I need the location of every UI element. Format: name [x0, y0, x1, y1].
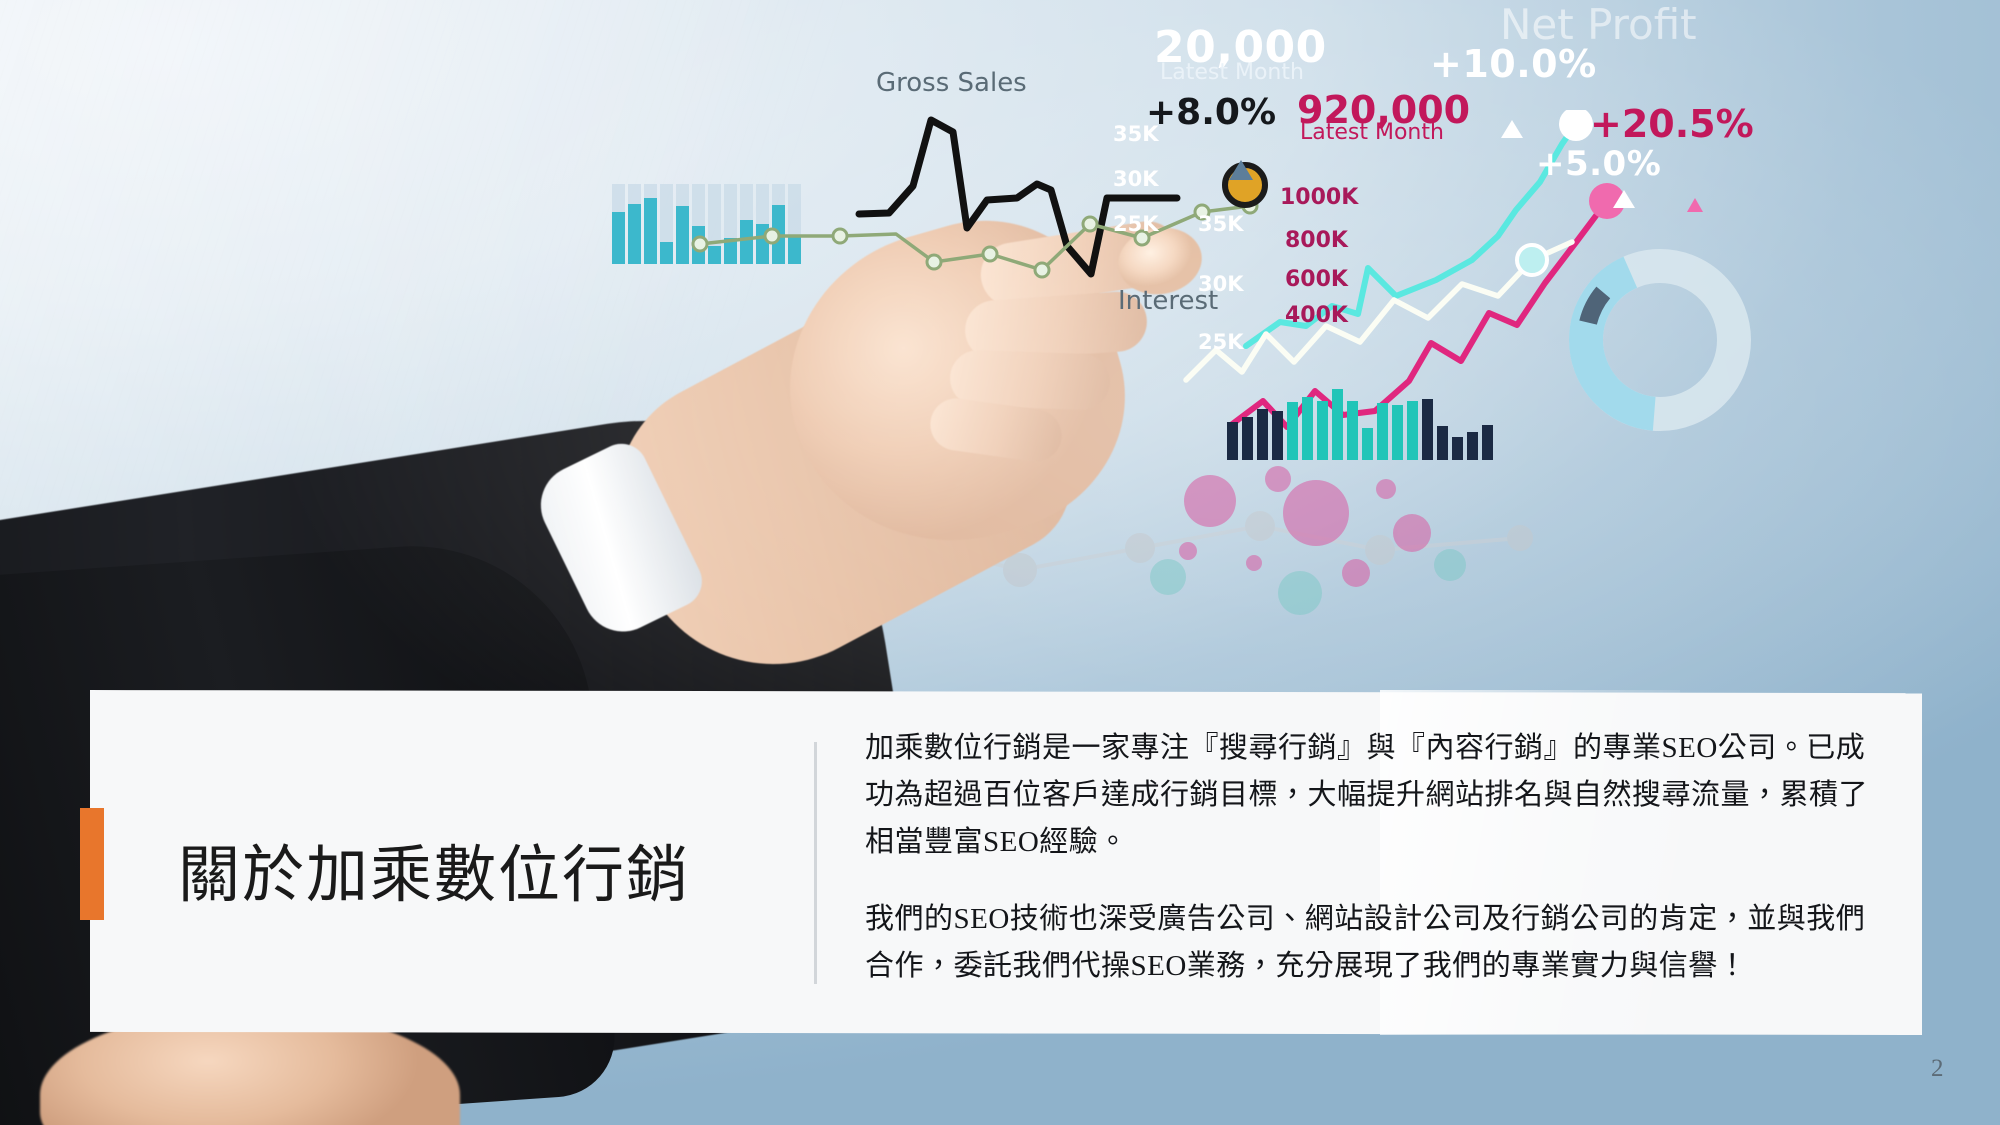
- pct-5-label: +5.0%: [1536, 144, 1661, 184]
- axis-tick-right-2: 600K: [1285, 267, 1348, 292]
- axis-tick-left-1: 30K: [1113, 167, 1159, 191]
- axis-tick-mid-2: 25K: [1198, 330, 1244, 354]
- donut-chart: [1550, 230, 1770, 450]
- axis-tick-mid-0: 35K: [1198, 212, 1244, 236]
- page-title: 關於加乘數位行銷: [178, 842, 778, 910]
- bubble-cluster: [1150, 455, 1490, 615]
- axis-tick-mid-1: 30K: [1198, 272, 1244, 296]
- up-triangle-icon-1: [1228, 158, 1254, 182]
- body-text: 加乘數位行銷是一家專注『搜尋行銷』與『內容行銷』的專業SEO公司。已成功為超過百…: [865, 725, 1875, 990]
- up-triangle-icon-2: [1500, 118, 1524, 140]
- latest-month-label-1: Latest Month: [1160, 60, 1304, 85]
- pct-20-5-label: +20.5%: [1590, 102, 1754, 146]
- axis-tick-right-1: 800K: [1285, 228, 1348, 253]
- axis-tick-right-0: 1000K: [1280, 185, 1358, 210]
- slide-canvas: Gross Sales Interest Net Profit 20,000 L…: [0, 0, 2000, 1125]
- vertical-divider: [814, 742, 817, 984]
- axis-tick-right-3: 400K: [1285, 303, 1348, 328]
- paragraph-1: 加乘數位行銷是一家專注『搜尋行銷』與『內容行銷』的專業SEO公司。已成功為超過百…: [865, 725, 1875, 866]
- page-number: 2: [1931, 1055, 1944, 1083]
- revenue-bar-chart: [1225, 385, 1505, 460]
- paragraph-2: 我們的SEO技術也深受廣告公司、網站設計公司及行銷公司的肯定，並與我們合作，委託…: [865, 896, 1875, 990]
- gross-sales-label: Gross Sales: [876, 68, 1027, 98]
- axis-tick-left-2: 25K: [1113, 212, 1159, 236]
- pct-8-label: +8.0%: [1146, 92, 1276, 133]
- latest-month-label-2: Latest Month: [1300, 120, 1444, 145]
- up-triangle-icon-4: [1686, 196, 1704, 214]
- orange-accent-bar: [80, 808, 104, 920]
- up-triangle-icon-3: [1612, 188, 1636, 210]
- axis-tick-left-0: 35K: [1113, 122, 1159, 146]
- pct-10-label: +10.0%: [1430, 42, 1597, 86]
- white-trend-line: [1180, 230, 1580, 410]
